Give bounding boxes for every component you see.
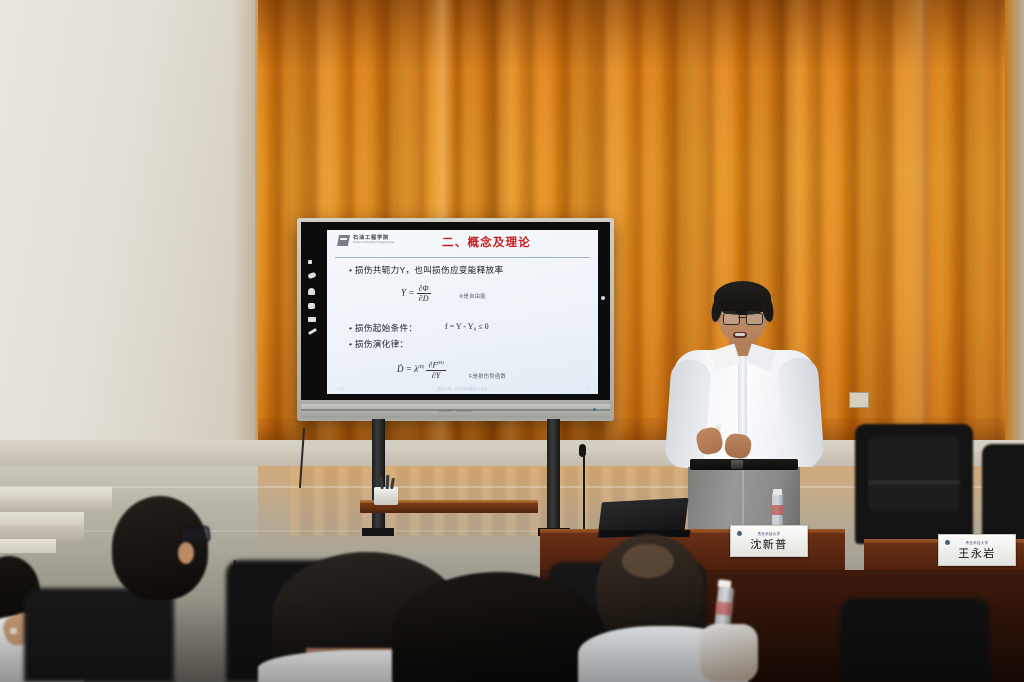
presenter-trousers <box>688 467 800 531</box>
nameplate-1: 青岛科技大学 沈新普 <box>730 525 808 557</box>
keyboard-icon[interactable] <box>308 317 316 322</box>
formula-2-numerator: ∂F(D) <box>426 360 445 370</box>
slide-damage-condition: f = Y - Y₀ ≤ 0 <box>445 322 489 331</box>
floor-seam-2 <box>0 530 560 532</box>
slide-formula-1-note: Φ是自由能 <box>459 292 486 300</box>
executive-chair-1-seam <box>868 480 960 485</box>
slide-footer-center: 损伤力学－损伤本构模型与应用 <box>327 386 598 391</box>
slide-formula-2: Ḋ = λ(D) ∂F(D) ∂Y <box>397 360 446 380</box>
marker-cup[interactable] <box>374 487 398 505</box>
audience-ring-icon <box>10 628 17 634</box>
formula-1-denominator: ∂D <box>417 293 431 303</box>
presenter-right-arm <box>777 357 824 468</box>
eyeglasses-icon-right <box>746 313 763 325</box>
audience-arm-foreground <box>700 624 758 682</box>
curtain-highlight-fold-2 <box>905 0 935 455</box>
formula-1-lhs: Y = <box>401 288 414 298</box>
eyeglasses-icon-left <box>723 313 740 325</box>
highlighter-icon[interactable] <box>308 328 317 335</box>
whiteboard-toolbar[interactable] <box>304 260 318 360</box>
cursor-icon[interactable] <box>307 272 316 279</box>
slide-formula-2-note: F是损伤势函数 <box>469 372 506 380</box>
executive-chair-2[interactable] <box>982 444 1024 544</box>
eraser-icon[interactable] <box>308 288 315 295</box>
water-bottle-foreground-cap <box>718 579 732 588</box>
formula-2-lhs: Ḋ = λ <box>397 364 418 374</box>
interactive-whiteboard[interactable]: 石油工程学院 School of Petroleum Engineering 二… <box>297 218 614 421</box>
presenter-belt-buckle <box>731 460 743 469</box>
wall-outlet-plate-icon <box>849 392 869 408</box>
pen-icon[interactable] <box>308 260 312 264</box>
audience-chair-far-right[interactable] <box>840 598 990 682</box>
stage-step-3 <box>0 539 56 553</box>
right-wall-strip <box>1005 0 1024 455</box>
formula-2-num-sup: (D) <box>437 360 443 365</box>
nameplate-2-logo-icon <box>945 540 950 545</box>
nameplate-2-name: 王永岩 <box>958 545 996 561</box>
slide-header: 石油工程学院 School of Petroleum Engineering 二… <box>327 230 598 256</box>
water-bottle-label <box>772 505 783 515</box>
display-power-led-icon <box>593 408 596 411</box>
display-panel[interactable]: 石油工程学院 School of Petroleum Engineering 二… <box>301 222 610 400</box>
formula-2-denominator: ∂Y <box>426 370 445 380</box>
slide-title: 二、概念及理论 <box>327 234 598 250</box>
water-bottle-foreground-label <box>715 601 732 616</box>
left-wall <box>0 0 262 452</box>
formula-1-fraction: ∂Φ ∂D <box>417 284 431 303</box>
shape-icon[interactable] <box>308 303 315 309</box>
nameplate-2: 青岛科技大学 王永岩 <box>938 534 1016 566</box>
executive-chair-1-cushion <box>868 436 960 512</box>
formula-2-fraction: ∂F(D) ∂Y <box>426 360 445 380</box>
slide-bullet-1: 损伤共轭力Y，也叫损伤应变能释放率 <box>349 264 503 276</box>
display-stand-leg-right <box>547 419 560 531</box>
nameplate-1-logo-icon <box>737 531 742 536</box>
water-bottle-cap <box>773 489 782 495</box>
audience-head-glasses <box>112 496 208 600</box>
presenter-belt <box>690 459 798 470</box>
nameplate-1-name: 沈新普 <box>750 536 788 552</box>
formula-2-num-text: ∂F <box>428 361 437 370</box>
presenter-teeth <box>735 333 745 336</box>
display-stand-leg-left <box>372 419 385 531</box>
audience-ear-glasses <box>178 542 194 564</box>
slide-formula-1: Y = ∂Φ ∂D <box>401 284 431 303</box>
formula-2-lhs-sup: (D) <box>418 364 424 369</box>
audience-chair-left[interactable] <box>24 588 174 682</box>
presenter-trouser-crease <box>742 470 744 530</box>
display-bottom-bar: SMART BOARD <box>301 404 610 418</box>
slide-bullet-3: 损伤演化律： <box>349 338 408 350</box>
display-brand-label: SMART BOARD <box>438 408 473 413</box>
lecture-hall-scene: 石油工程学院 School of Petroleum Engineering 二… <box>0 0 1024 682</box>
slide-title-rule <box>335 257 590 258</box>
display-stand-foot-left <box>362 528 394 536</box>
panel-indicator-dot <box>601 296 605 300</box>
eyeglasses-bridge <box>738 317 746 318</box>
slide-footer-right: 9 <box>586 387 588 391</box>
formula-1-numerator: ∂Φ <box>417 284 431 293</box>
presentation-slide: 石油工程学院 School of Petroleum Engineering 二… <box>327 230 598 394</box>
audience-bald-spot <box>622 544 674 578</box>
slide-bullet-2: 损伤起始条件： <box>349 322 417 334</box>
microphone-gooseneck <box>583 451 585 535</box>
slide-body: 损伤共轭力Y，也叫损伤应变能释放率 Y = ∂Φ ∂D Φ是自由能 损伤起始条件… <box>327 260 598 394</box>
